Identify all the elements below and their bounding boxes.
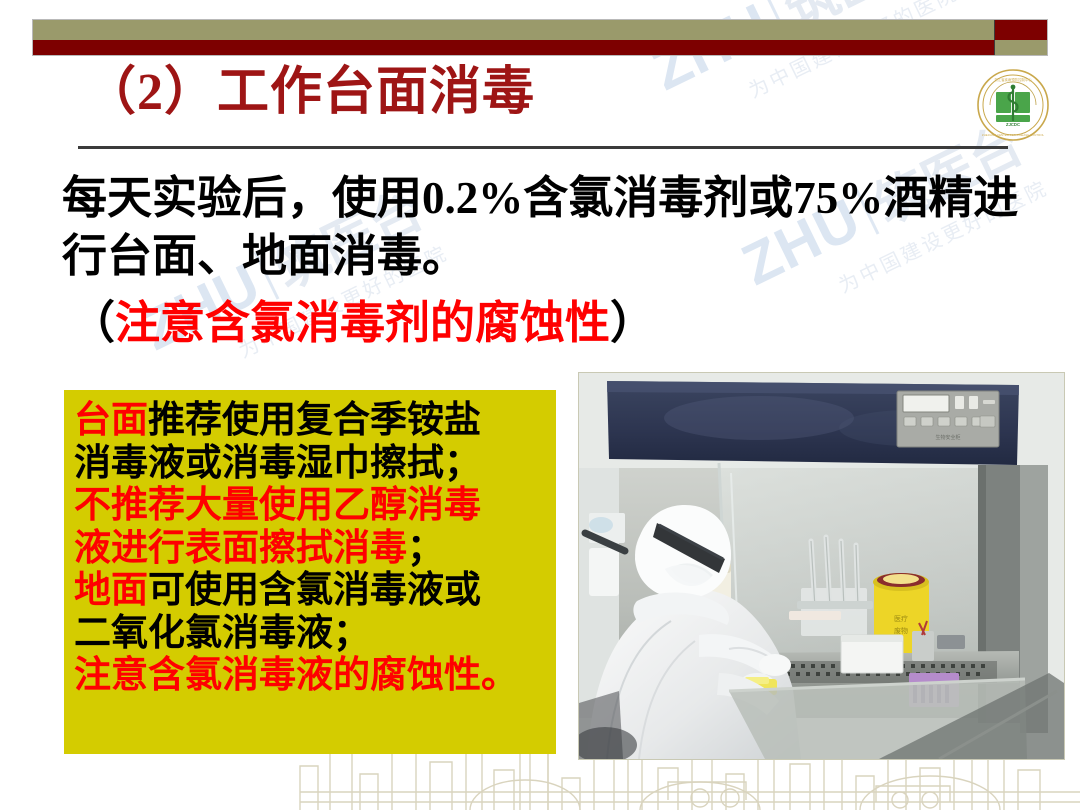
callout-text-segment: 台面: [74, 400, 148, 441]
callout-text-segment: 推荐使用复合季铵盐: [148, 400, 481, 441]
svg-text:浙江省疾病预防控制中心: 浙江省疾病预防控制中心: [994, 77, 1032, 82]
body-paragraph: 每天实验后，使用0.2%含氯消毒剂或75%酒精进行台面、地面消毒。: [62, 170, 1022, 285]
svg-text:ZJCDC: ZJCDC: [1006, 122, 1020, 127]
callout-line: 不推荐大量使用乙醇消毒: [74, 485, 548, 528]
note-close-paren: ）: [610, 298, 655, 348]
header-red-bar: [33, 40, 994, 55]
header-red-cap: [994, 20, 1047, 40]
header-banner-bottom-row: [33, 40, 1047, 55]
slide-canvas: ZHU筑医台 为中国建设更好的医院 ZHU筑医台 为中国建设更好的医院 ZHU筑…: [0, 0, 1080, 810]
callout-line: 台面推荐使用复合季铵盐: [74, 400, 548, 443]
callout-line: 地面可使用含氯消毒液或: [74, 570, 548, 613]
cdc-logo: 浙江省疾病预防控制中心 ZJCDC ZHEJIANG CENTER FOR DI…: [976, 68, 1050, 142]
svg-text:生物安全柜: 生物安全柜: [935, 434, 960, 441]
callout-text-segment: ；: [407, 528, 444, 569]
lab-photo: 生物安全柜: [578, 372, 1065, 760]
svg-text:废物: 废物: [894, 626, 908, 635]
header-olive-bar: [33, 20, 994, 40]
callout-line: 消毒液或消毒湿巾擦拭；: [74, 443, 548, 486]
svg-text:ZHEJIANG CENTER FOR DISEASE CO: ZHEJIANG CENTER FOR DISEASE CONTROL: [982, 133, 1045, 137]
svg-text:医疗: 医疗: [894, 614, 908, 623]
callout-text-segment: 注意含氯消毒液的腐蚀性。: [74, 655, 518, 696]
callout-line: 注意含氯消毒液的腐蚀性。: [74, 655, 548, 698]
callout-text-segment: 二氧化氯消毒液；: [74, 613, 370, 654]
caution-note: （注意含氯消毒剂的腐蚀性）: [70, 296, 655, 350]
title-underline: [78, 146, 1008, 149]
note-open-paren: （: [70, 298, 115, 348]
recommendation-callout: 台面推荐使用复合季铵盐消毒液或消毒湿巾擦拭；不推荐大量使用乙醇消毒液进行表面擦拭…: [64, 390, 556, 754]
callout-text-segment: 地面: [74, 570, 148, 611]
header-banner: [32, 19, 1048, 56]
header-banner-top-row: [33, 20, 1047, 40]
callout-text-segment: 可使用含氯消毒液或: [148, 570, 481, 611]
note-red-text: 注意含氯消毒剂的腐蚀性: [115, 298, 610, 348]
callout-line: 二氧化氯消毒液；: [74, 613, 548, 656]
page-title: （2）工作台面消毒: [84, 66, 535, 121]
header-olive-cap: [994, 40, 1047, 55]
callout-line: 液进行表面擦拭消毒；: [74, 528, 548, 571]
callout-text-segment: 不推荐大量使用乙醇消毒: [74, 485, 481, 526]
callout-text-segment: 液进行表面擦拭消毒: [74, 528, 407, 569]
callout-text-segment: 消毒液或消毒湿巾擦拭；: [74, 443, 481, 484]
